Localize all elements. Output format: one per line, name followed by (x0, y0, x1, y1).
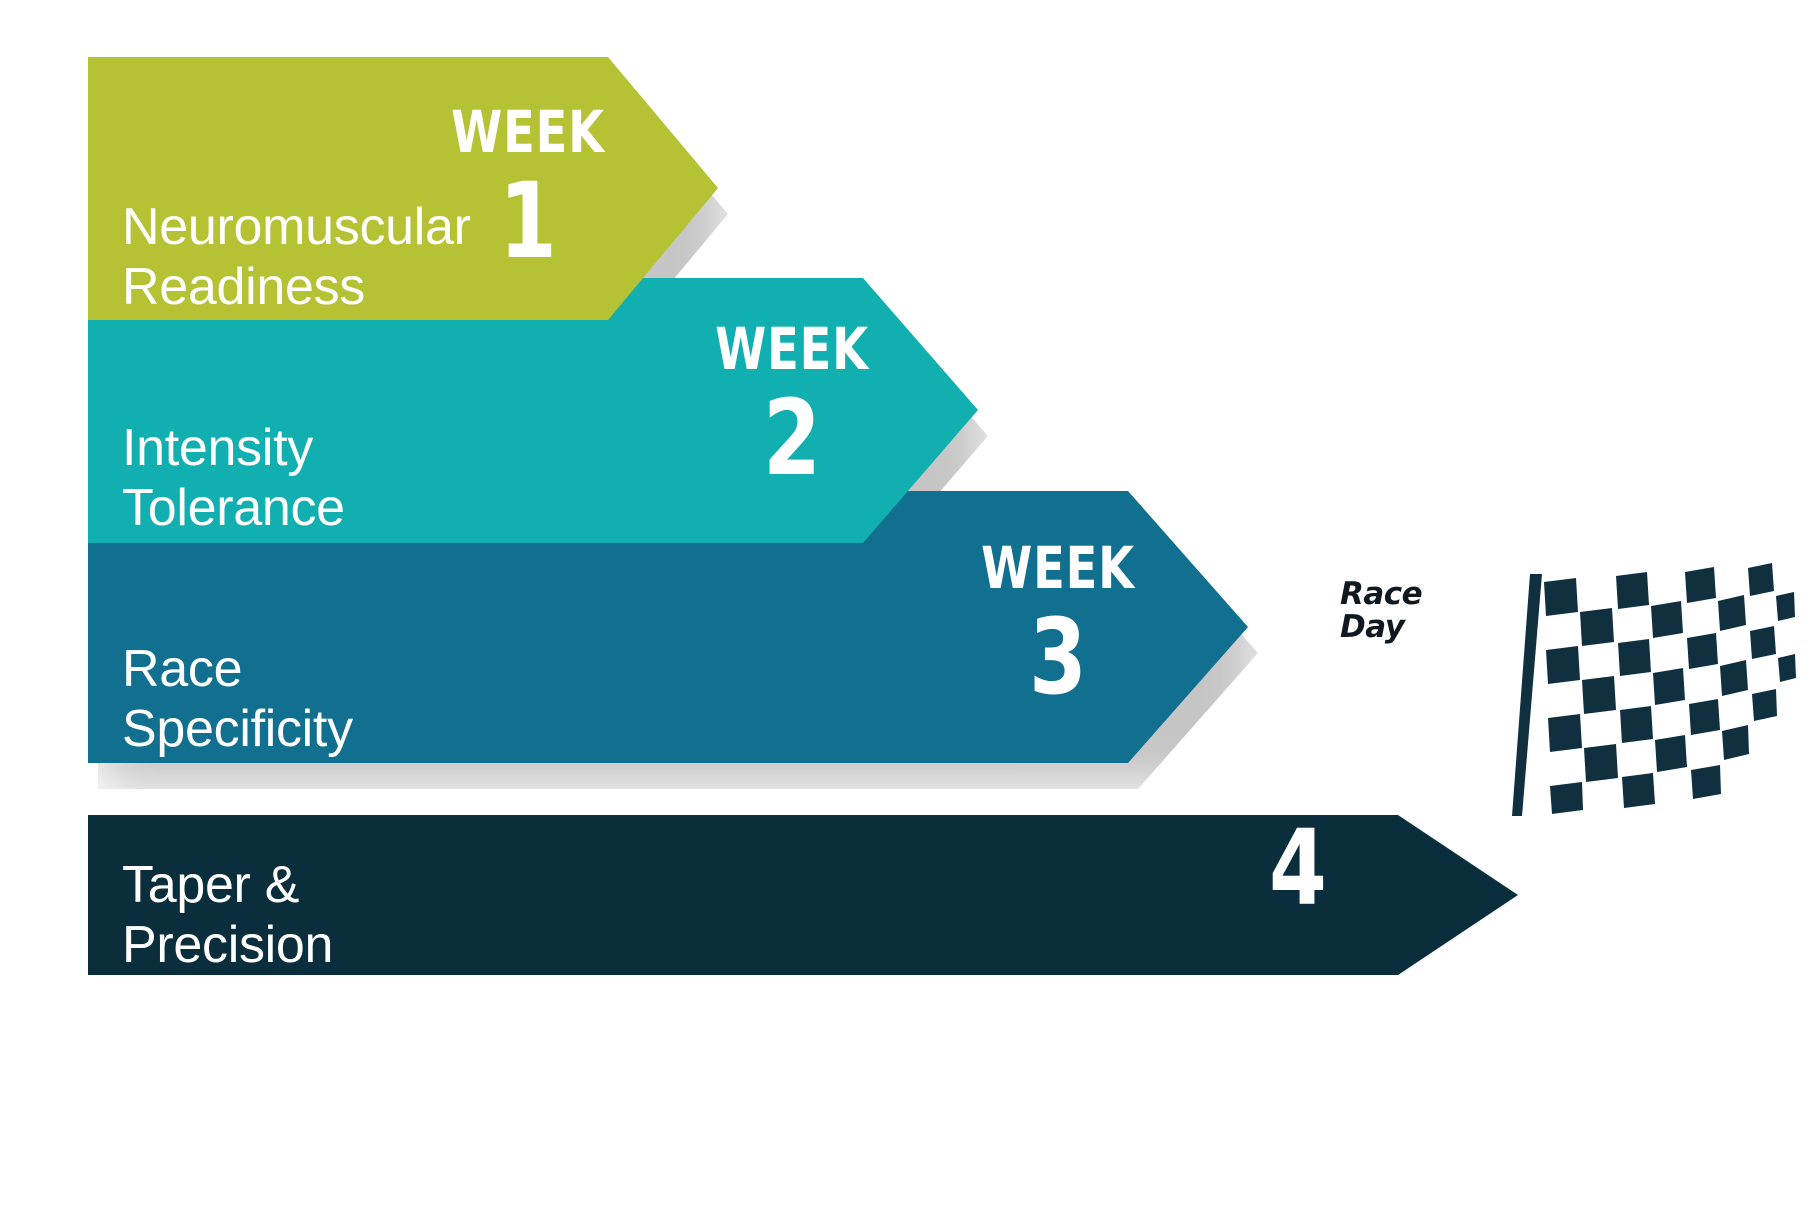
week-badge-week-3: WEEK 3 (948, 539, 1168, 709)
phase-row-week-1[interactable]: Neuromuscular Readiness WEEK 1 (88, 57, 718, 320)
phase-row-week-4[interactable]: Taper & Precision WEEK 4 (88, 815, 1518, 975)
phase-label-week-2: Intensity Tolerance (122, 418, 345, 539)
week-number-2: 2 (704, 386, 880, 490)
week-word-1: WEEK (440, 103, 616, 161)
race-day-marker: Race Day (1340, 560, 1810, 820)
week-number-1: 1 (440, 169, 616, 273)
week-word-2: WEEK (704, 320, 880, 378)
week-word-3: WEEK (970, 539, 1146, 597)
infographic-canvas: Taper & Precision WEEK 4 Race Specificit… (0, 0, 1816, 1213)
phase-label-week-4: Taper & Precision (122, 855, 333, 976)
checkered-flag-icon (1426, 560, 1806, 820)
week-badge-week-2: WEEK 2 (682, 320, 902, 490)
week-number-4: 4 (1210, 816, 1386, 920)
week-number-3: 3 (970, 605, 1146, 709)
week-badge-week-1: WEEK 1 (418, 103, 638, 273)
phase-label-week-3: Race Specificity (122, 639, 353, 760)
race-day-label: Race Day (1340, 578, 1422, 645)
